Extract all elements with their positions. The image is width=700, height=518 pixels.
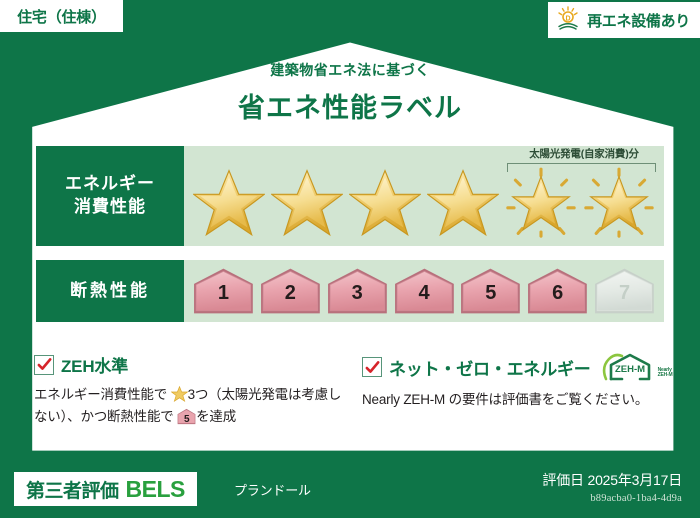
star-icon [268,167,346,239]
renewable-badge-text: 再エネ設備あり [587,10,690,31]
energy-performance-label: 住宅（住棟） D 再エネ設備あり 建築物省エネ法に基づく 省エネ性能ラベ [0,0,700,518]
insulation-level-number: 4 [393,282,456,305]
insulation-level-marker: 7 [593,266,656,316]
brand-name: プランドール [234,480,311,499]
claim-zeh-text-part3: を達成 [196,409,236,424]
star-rating [190,164,660,242]
insulation-performance-row: 断熱性能 [36,260,664,322]
star-icon [424,167,502,239]
building-type-tag: 住宅（住棟） [0,0,123,32]
star-icon-solar [580,167,658,239]
evaluation-id: b89acba0-1ba4-4d9a [542,493,682,504]
zeh-m-logo: ZEH-M Nearly ZEH-M [602,352,673,382]
renewable-equipment-badge: D 再エネ設備あり [548,2,700,38]
bels-third-party-mark: 第三者評価 BELS [14,472,197,506]
bels-logo-text: BELS [126,476,185,503]
claim-nze-header: ネット・ゼロ・エネルギー ZEH-M Nearly ZEH-M [362,352,664,382]
page-title: 省エネ性能ラベル [0,86,700,125]
footer-metadata: 評価日 2025年3月17日 b89acba0-1ba4-4d9a [542,470,682,504]
energy-performance-body [184,146,664,246]
label-heading: 建築物省エネ法に基づく 省エネ性能ラベル [0,60,700,125]
solar-sun-icon: D [555,5,581,36]
zeh-m-logo-subtext: Nearly ZEH-M [658,368,673,383]
insulation-level-number: 3 [326,282,389,305]
insulation-level-number: 6 [526,282,589,305]
claim-zeh-text: エネルギー消費性能で 3つ（太陽光発電は考慮しない）、かつ断熱性能で 5 を達成 [34,384,346,428]
star-icon [190,167,268,239]
energy-name-line1: エネルギー [65,173,155,196]
claim-nze-text: Nearly ZEH-M の要件は評価書をご覧ください。 [362,389,664,411]
energy-name-line2: 消費性能 [74,196,146,219]
svg-text:ZEH-M: ZEH-M [615,364,645,375]
insulation-level-number: 7 [593,282,656,305]
claim-zeh-inline-level: 5 [177,412,196,428]
claim-zeh-title: ZEH水準 [61,352,128,377]
star-icon-inline [171,386,188,402]
insulation-level-number: 1 [192,282,255,305]
insulation-level-marker: 3 [326,266,389,316]
label-subtitle: 建築物省エネ法に基づく [0,60,700,80]
insulation-level-icon-inline: 5 [177,408,196,425]
building-type-text: 住宅（住棟） [17,6,106,27]
checkmark-icon [34,355,54,375]
insulation-performance-body: 1 2 3 [184,260,664,322]
insulation-level-marker: 2 [259,266,322,316]
claim-nze-title: ネット・ゼロ・エネルギー [389,355,591,380]
insulation-level-marker: 6 [526,266,589,316]
third-party-label: 第三者評価 [26,476,119,503]
star-icon-solar [502,167,580,239]
insulation-level-marker: 5 [459,266,522,316]
insulation-level-number: 2 [259,282,322,305]
energy-performance-row: エネルギー 消費性能 [36,146,664,246]
energy-performance-name: エネルギー 消費性能 [36,146,184,246]
insulation-performance-name: 断熱性能 [36,260,184,322]
checkmark-icon [362,357,382,377]
insulation-name-text: 断熱性能 [70,280,150,303]
svg-text:D: D [566,15,571,22]
claim-zeh-header: ZEH水準 [34,352,346,377]
claim-zeh-text-part1: エネルギー消費性能で [34,387,167,402]
evaluation-date: 評価日 2025年3月17日 [542,470,682,490]
claim-net-zero-energy: ネット・ゼロ・エネルギー ZEH-M Nearly ZEH-M Nearly Z… [362,352,664,411]
star-icon [346,167,424,239]
insulation-level-scale: 1 2 3 [192,265,656,317]
claim-zeh-standard: ZEH水準 エネルギー消費性能で 3つ（太陽光発電は考慮しない）、かつ断熱性能で… [34,352,346,428]
insulation-level-marker: 1 [192,266,255,316]
insulation-level-number: 5 [459,282,522,305]
insulation-level-marker: 4 [393,266,456,316]
zeh-m-sub-line2: ZEH-M [658,372,673,378]
